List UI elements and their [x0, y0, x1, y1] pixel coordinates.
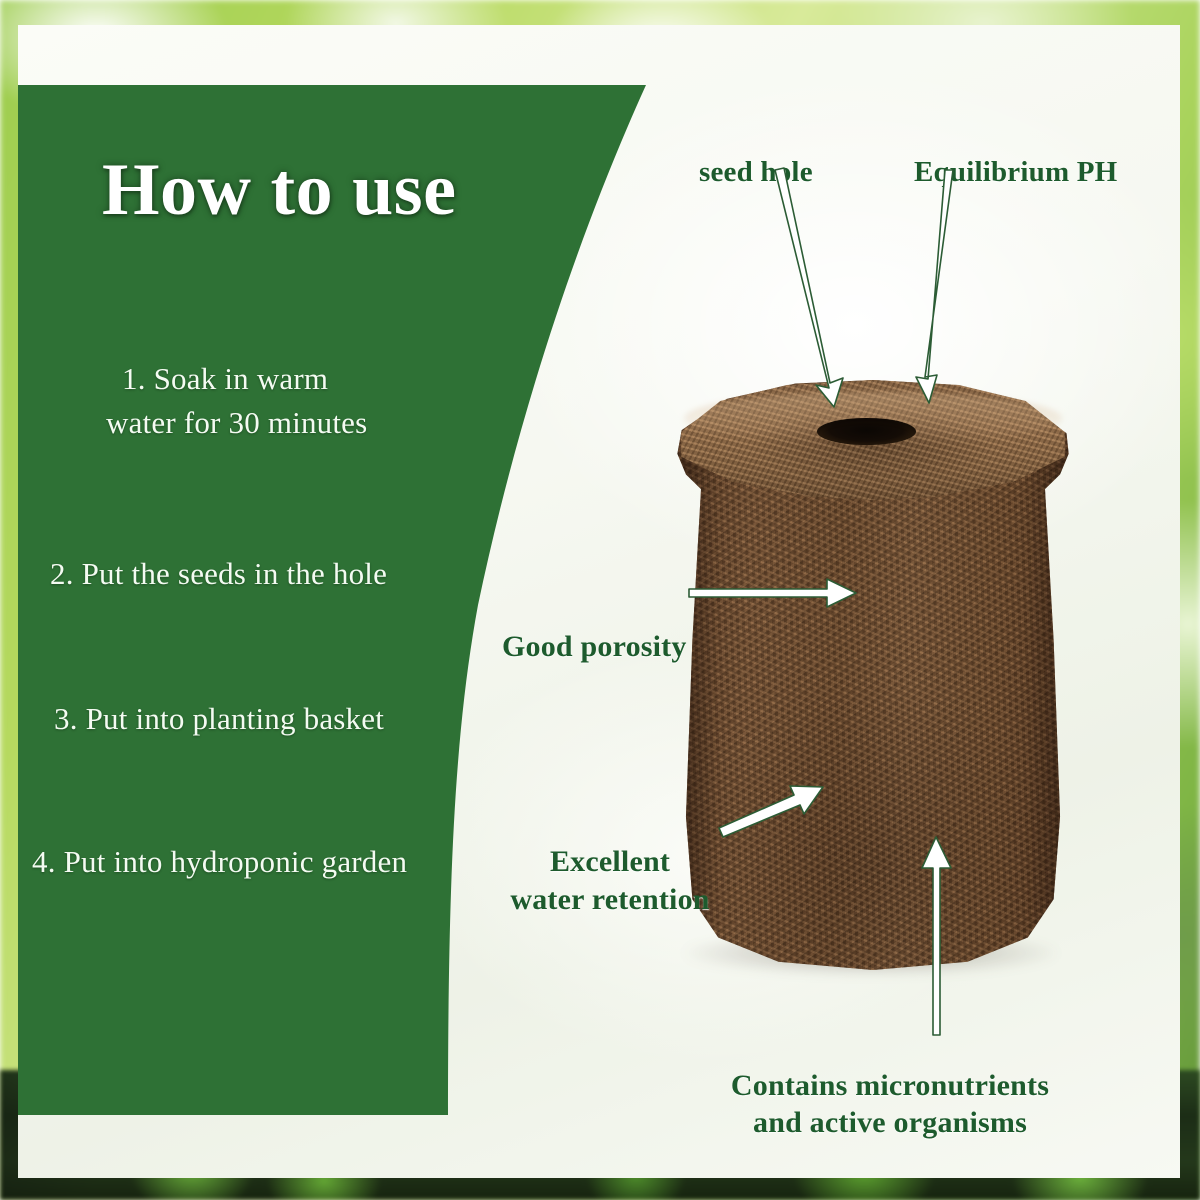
annotation-label-seed-hole: seed hole	[699, 156, 813, 189]
green-instructions-panel	[18, 85, 678, 1115]
arrow-to-equilibrium-ph	[916, 170, 953, 403]
infographic-canvas: How to use 1. Soak in warm water for 30 …	[0, 0, 1200, 1200]
micronutrients-line-2: and active organisms	[704, 1104, 1076, 1141]
step-item-1: 1. Soak in warm water for 30 minutes	[122, 357, 367, 445]
step-3-line-1: 3. Put into planting basket	[54, 697, 384, 741]
micronutrients-line-1: Contains micronutrients	[704, 1067, 1076, 1104]
step-item-3: 3. Put into planting basket	[54, 697, 384, 741]
content-card: How to use 1. Soak in warm water for 30 …	[18, 25, 1180, 1178]
step-1-line-2: water for 30 minutes	[106, 401, 367, 445]
step-4-line-1: 4. Put into hydroponic garden	[32, 840, 407, 884]
arrow-to-seed-hole	[775, 168, 843, 407]
annotation-label-water-retention: Excellent water retention	[490, 843, 730, 919]
step-item-2: 2. Put the seeds in the hole	[50, 552, 387, 596]
water-retention-line-2: water retention	[490, 881, 730, 919]
plug-right-shading	[1026, 451, 1069, 958]
seed-hole-opening	[817, 418, 916, 445]
annotation-label-equilibrium-ph: Equilibrium PH	[914, 156, 1117, 189]
water-retention-line-1: Excellent	[490, 843, 730, 881]
step-item-4: 4. Put into hydroponic garden	[32, 840, 407, 884]
step-2-line-1: 2. Put the seeds in the hole	[50, 552, 387, 596]
step-1-line-1: 1. Soak in warm	[122, 357, 367, 401]
annotation-label-good-porosity: Good porosity	[502, 630, 687, 664]
annotation-label-micronutrients: Contains micronutrients and active organ…	[704, 1067, 1076, 1141]
page-title: How to use	[102, 148, 456, 233]
